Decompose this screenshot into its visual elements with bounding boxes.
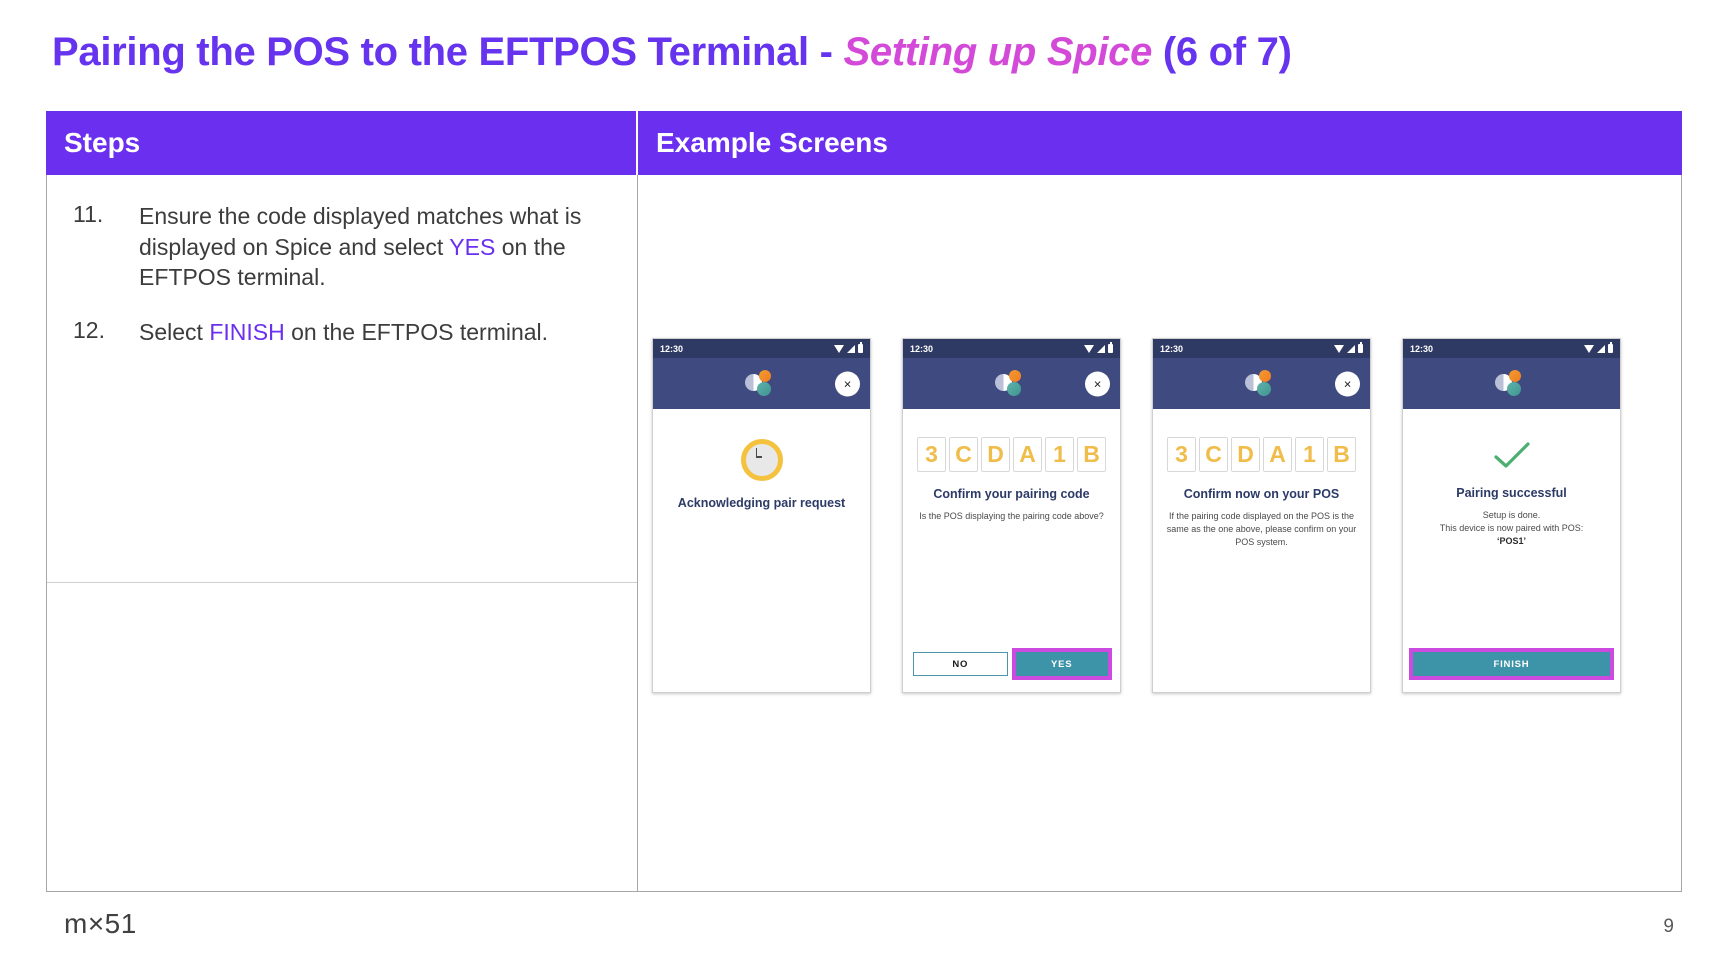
column-header-steps: Steps xyxy=(46,111,638,175)
steps-column: 11. Ensure the code displayed matches wh… xyxy=(46,175,638,891)
button-row: FINISH xyxy=(1413,652,1610,676)
pairing-code-char: A xyxy=(1263,437,1292,472)
status-time: 12:30 xyxy=(1160,344,1183,354)
battery-icon xyxy=(1108,344,1113,353)
step-text: Ensure the code displayed matches what i… xyxy=(139,201,589,293)
list-item: 11. Ensure the code displayed matches wh… xyxy=(73,201,621,293)
signal-icon xyxy=(1597,345,1605,353)
pairing-code-char: 3 xyxy=(917,437,946,472)
screen-body: 3 C D A 1 B Confirm your pairing code Is… xyxy=(903,409,1120,692)
step-text-a: Select xyxy=(139,319,209,345)
status-icons xyxy=(834,344,863,353)
status-time: 12:30 xyxy=(910,344,933,354)
screen-title: Confirm now on your POS xyxy=(1184,486,1340,502)
page-number: 9 xyxy=(1663,916,1674,938)
example-screens-column: 12:30 × xyxy=(638,175,1682,891)
button-row: NO YES xyxy=(913,652,1110,676)
pairing-code-char: D xyxy=(1231,437,1260,472)
step-highlight-yes: YES xyxy=(449,234,495,260)
screen-subtitle: If the pairing code displayed on the POS… xyxy=(1163,510,1360,549)
step-number: 12. xyxy=(73,317,139,348)
paired-pos-name: ‘POS1’ xyxy=(1497,536,1526,546)
column-header-example-screens: Example Screens xyxy=(638,111,1682,175)
clock-spinner-icon xyxy=(741,439,783,481)
app-bar xyxy=(1403,358,1620,409)
wifi-icon xyxy=(1334,345,1344,353)
screen-body: Pairing successful Setup is done. This d… xyxy=(1403,409,1620,692)
status-icons xyxy=(1084,344,1113,353)
battery-icon xyxy=(858,344,863,353)
status-icons xyxy=(1584,344,1613,353)
step-text: Select FINISH on the EFTPOS terminal. xyxy=(139,317,548,348)
row-divider xyxy=(47,582,637,583)
app-bar: × xyxy=(1153,358,1370,409)
phone-screen-confirm-code: 12:30 × xyxy=(902,338,1121,693)
screen-title: Confirm your pairing code xyxy=(933,486,1089,502)
finish-button[interactable]: FINISH xyxy=(1413,652,1610,676)
mx51-brand-icon xyxy=(745,370,779,398)
status-bar: 12:30 xyxy=(903,339,1120,358)
pairing-code-char: 1 xyxy=(1045,437,1074,472)
page-title-part-1: Pairing the POS to the EFTPOS Terminal - xyxy=(52,30,844,74)
pairing-code-char: D xyxy=(981,437,1010,472)
step-highlight-finish: FINISH xyxy=(209,319,284,345)
table-header-row: Steps Example Screens xyxy=(46,111,1682,175)
pairing-code-char: B xyxy=(1077,437,1106,472)
app-bar: × xyxy=(653,358,870,409)
page-title: Pairing the POS to the EFTPOS Terminal -… xyxy=(52,30,1292,75)
steps-table: Steps Example Screens 11. Ensure the cod… xyxy=(46,111,1682,891)
wifi-icon xyxy=(1084,345,1094,353)
status-bar: 12:30 xyxy=(1403,339,1620,358)
mx51-brand-icon xyxy=(1245,370,1279,398)
screen-body: Acknowledging pair request xyxy=(653,409,870,692)
wifi-icon xyxy=(834,345,844,353)
pairing-code-char: B xyxy=(1327,437,1356,472)
pairing-code-char: C xyxy=(1199,437,1228,472)
mx51-logo: m×51 xyxy=(64,908,137,940)
status-bar: 12:30 xyxy=(1153,339,1370,358)
subtitle-line-1: Setup is done. xyxy=(1483,510,1541,520)
screen-title: Pairing successful xyxy=(1456,485,1566,501)
subtitle-line-2: This device is now paired with POS: xyxy=(1440,523,1584,533)
screen-subtitle: Is the POS displaying the pairing code a… xyxy=(919,510,1104,523)
pairing-code: 3 C D A 1 B xyxy=(917,437,1106,472)
pairing-code: 3 C D A 1 B xyxy=(1167,437,1356,472)
signal-icon xyxy=(1097,345,1105,353)
page-title-emphasis: Setting up Spice xyxy=(844,30,1153,74)
mx51-brand-icon xyxy=(995,370,1029,398)
pairing-code-char: 3 xyxy=(1167,437,1196,472)
battery-icon xyxy=(1358,344,1363,353)
phone-screen-pairing-successful: 12:30 xyxy=(1402,338,1621,693)
wifi-icon xyxy=(1584,345,1594,353)
success-check-icon xyxy=(1493,441,1531,471)
step-number: 11. xyxy=(73,201,139,293)
list-item: 12. Select FINISH on the EFTPOS terminal… xyxy=(73,317,621,348)
screen-subtitle: Setup is done. This device is now paired… xyxy=(1440,509,1584,548)
status-bar: 12:30 xyxy=(653,339,870,358)
phone-screenshots-group: 12:30 × xyxy=(652,338,1621,693)
close-icon[interactable]: × xyxy=(835,371,860,396)
battery-icon xyxy=(1608,344,1613,353)
steps-list: 11. Ensure the code displayed matches wh… xyxy=(47,175,637,347)
phone-screen-confirm-on-pos: 12:30 × xyxy=(1152,338,1371,693)
signal-icon xyxy=(847,345,855,353)
status-icons xyxy=(1334,344,1363,353)
pairing-code-char: A xyxy=(1013,437,1042,472)
status-time: 12:30 xyxy=(1410,344,1433,354)
page-title-part-2: (6 of 7) xyxy=(1152,30,1292,74)
no-button[interactable]: NO xyxy=(913,652,1008,676)
pairing-code-char: 1 xyxy=(1295,437,1324,472)
status-time: 12:30 xyxy=(660,344,683,354)
table-body: 11. Ensure the code displayed matches wh… xyxy=(46,175,1682,892)
close-icon[interactable]: × xyxy=(1335,371,1360,396)
mx51-brand-icon xyxy=(1495,370,1529,398)
signal-icon xyxy=(1347,345,1355,353)
step-text-b: on the EFTPOS terminal. xyxy=(285,319,548,345)
screen-body: 3 C D A 1 B Confirm now on your POS If t… xyxy=(1153,409,1370,692)
phone-screen-acknowledging: 12:30 × xyxy=(652,338,871,693)
yes-button[interactable]: YES xyxy=(1016,652,1109,676)
close-icon[interactable]: × xyxy=(1085,371,1110,396)
screen-title: Acknowledging pair request xyxy=(678,495,845,511)
app-bar: × xyxy=(903,358,1120,409)
pairing-code-char: C xyxy=(949,437,978,472)
